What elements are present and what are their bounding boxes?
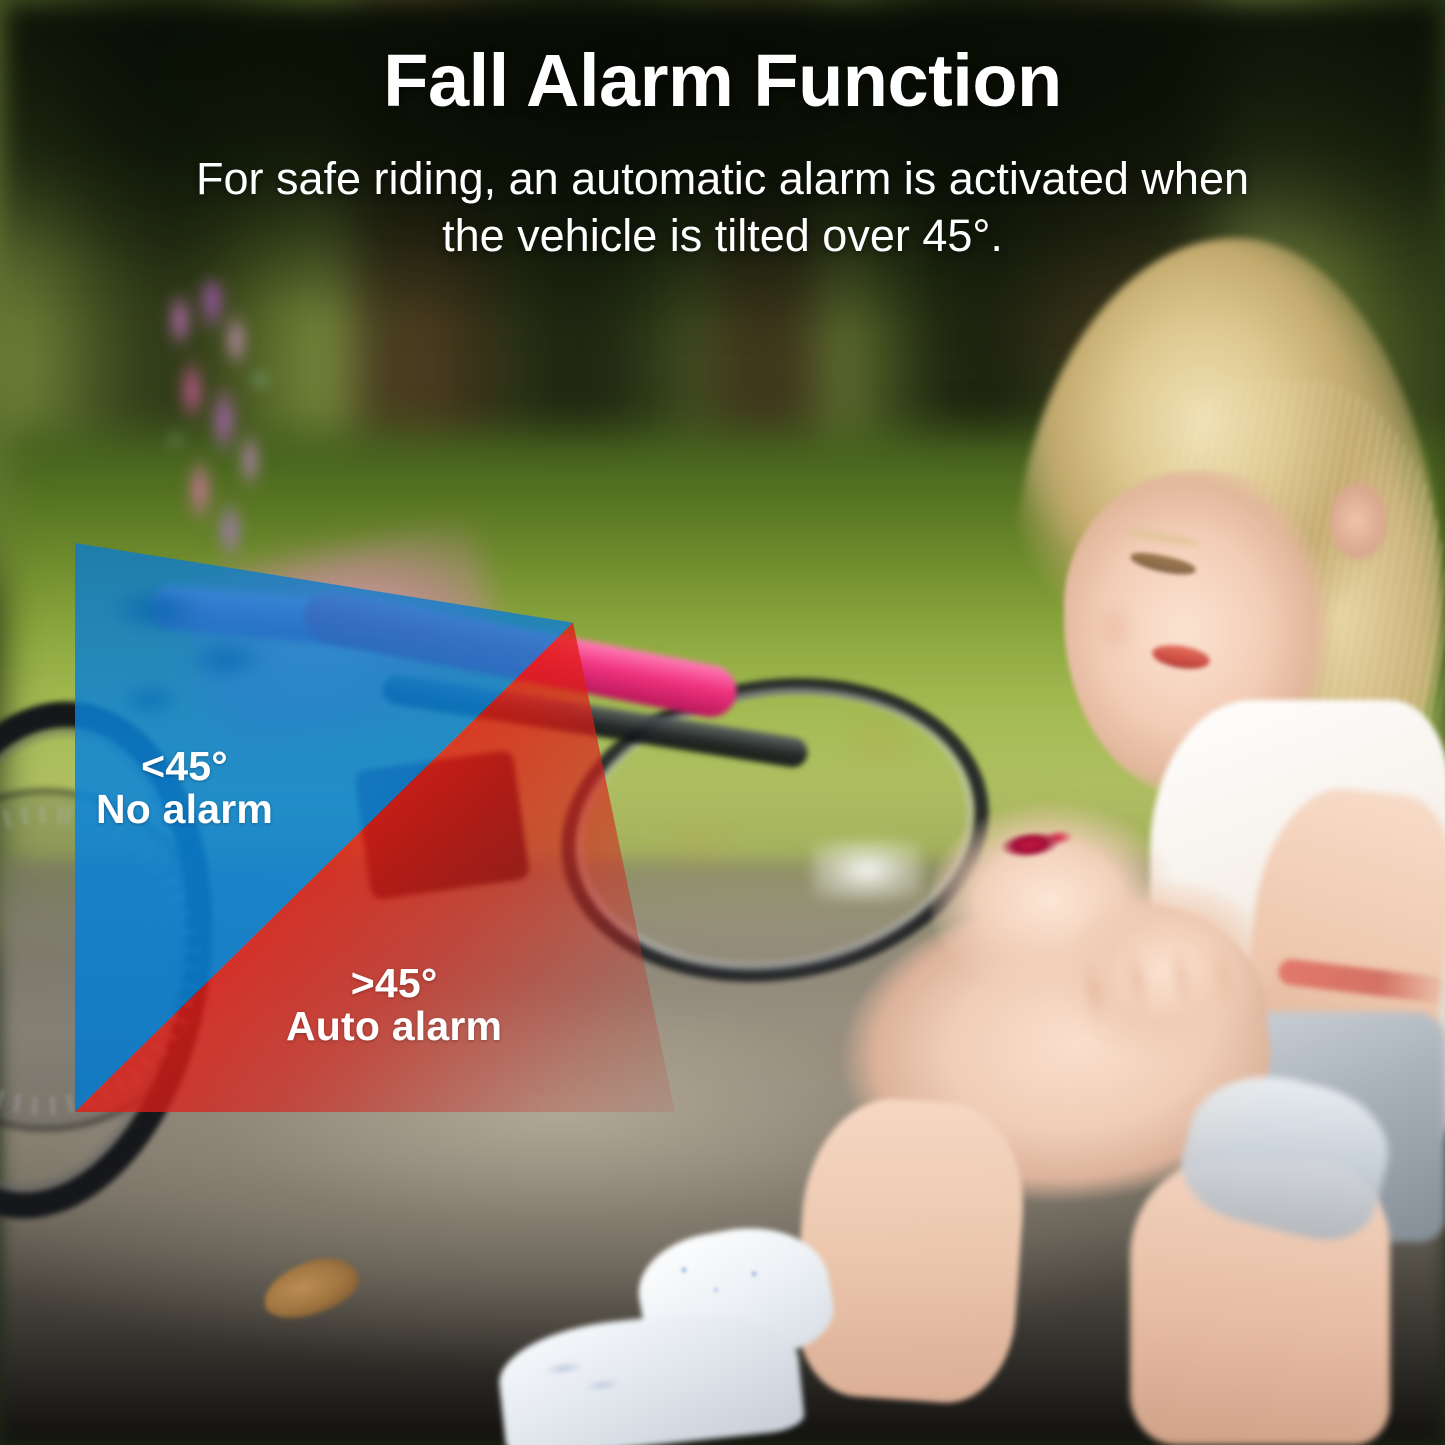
child-sock-pattern [668,1256,798,1316]
auto-alarm-label-group: >45° Auto alarm [286,962,502,1049]
child-shin [790,1093,1030,1408]
child-ear [1330,482,1388,560]
no-alarm-angle-label: <45° [96,745,273,788]
auto-alarm-status-label: Auto alarm [286,1005,502,1048]
bicycle-pedal [354,749,531,900]
page-subtitle: For safe riding, an automatic alarm is a… [163,150,1283,264]
auto-alarm-angle-label: >45° [286,962,502,1005]
no-alarm-status-label: No alarm [96,788,273,831]
bicycle-components [96,560,326,750]
bicycle-streamers [150,280,290,580]
child-nose [1090,600,1132,656]
bicycle-hub-glint [812,840,922,900]
product-feature-image: <45° No alarm >45° Auto alarm Fall Alarm… [0,0,1445,1445]
no-alarm-label-group: <45° No alarm [96,745,273,832]
page-title: Fall Alarm Function [0,38,1445,123]
